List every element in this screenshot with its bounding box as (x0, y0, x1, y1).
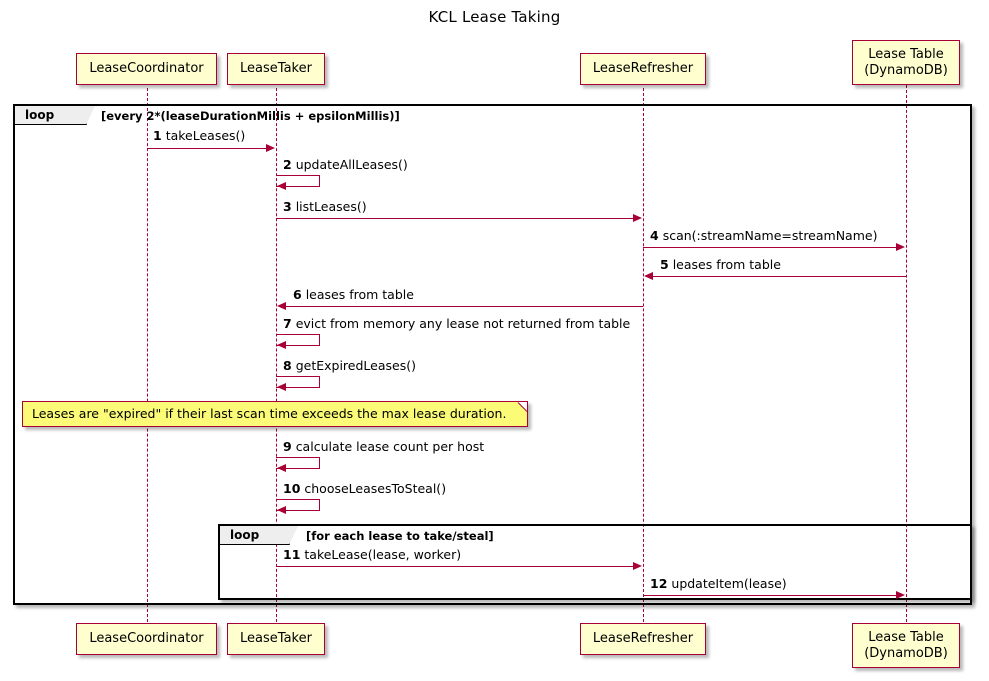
sequence-diagram-canvas: KCL Lease Taking loop [every 2*(leaseDur… (0, 0, 989, 681)
message-7-number: 7 (283, 316, 292, 331)
message-4-arrowhead (896, 243, 905, 251)
participant-label: LeaseTaker (240, 61, 312, 77)
message-5-number: 5 (660, 257, 669, 272)
message-9-arrowhead (277, 464, 286, 472)
participant-label: Lease Table (868, 47, 944, 63)
message-11-number: 11 (283, 547, 300, 562)
message-9-text: calculate lease count per host (296, 439, 484, 454)
message-8-label: 8 getExpiredLeases() (283, 358, 416, 373)
message-8-number: 8 (283, 358, 292, 373)
participant-label: Lease Table (868, 630, 944, 646)
message-2-label: 2 updateAllLeases() (283, 157, 408, 172)
message-10-text: chooseLeasesToSteal() (304, 481, 446, 496)
message-11-arrowhead (633, 562, 642, 570)
message-6-line (286, 306, 643, 307)
message-1-number: 1 (153, 128, 162, 143)
participant-lease-table-top[interactable]: Lease Table (DynamoDB) (852, 40, 960, 85)
frame-inner-loop-tab: loop (220, 526, 290, 545)
message-1-arrowhead (266, 144, 275, 152)
message-2-text: updateAllLeases() (296, 157, 408, 172)
message-9-label: 9 calculate lease count per host (283, 439, 484, 454)
frame-outer-loop-condition: [every 2*(leaseDurationMillis + epsilonM… (101, 109, 400, 123)
message-1-line (147, 148, 267, 149)
message-12-arrowhead (896, 591, 905, 599)
message-4-text: scan(:streamName=streamName) (663, 228, 878, 243)
page-title: KCL Lease Taking (0, 8, 989, 26)
participant-label: LeaseCoordinator (89, 631, 203, 647)
message-3-line (276, 218, 634, 219)
message-2-number: 2 (283, 157, 292, 172)
message-12-number: 12 (650, 576, 667, 591)
message-4-line (643, 247, 897, 248)
note-text: Leases are "expired" if their last scan … (32, 406, 506, 421)
message-10-number: 10 (283, 481, 300, 496)
message-4-label: 4 scan(:streamName=streamName) (650, 228, 877, 243)
message-2-arrowhead (277, 182, 286, 190)
participant-lease-table-bottom[interactable]: Lease Table (DynamoDB) (852, 623, 960, 668)
participant-lease-refresher-bottom[interactable]: LeaseRefresher (580, 623, 706, 655)
participant-label: LeaseTaker (240, 631, 312, 647)
message-5-text: leases from table (673, 257, 781, 272)
message-11-text: takeLease(lease, worker) (304, 547, 461, 562)
participant-lease-refresher-top[interactable]: LeaseRefresher (580, 53, 706, 85)
message-1-text: takeLeases() (166, 128, 246, 143)
message-12-label: 12 updateItem(lease) (650, 576, 787, 591)
participant-lease-taker-top[interactable]: LeaseTaker (227, 53, 325, 85)
message-5-label: 5 leases from table (660, 257, 781, 272)
participant-label-secondary: (DynamoDB) (864, 646, 948, 662)
message-7-label: 7 evict from memory any lease not return… (283, 316, 630, 331)
frame-inner-loop-condition: [for each lease to take/steal] (306, 529, 494, 543)
message-12-line (643, 595, 897, 596)
frame-inner-loop-kind: loop (230, 528, 259, 542)
message-11-label: 11 takeLease(lease, worker) (283, 547, 461, 562)
participant-label: LeaseRefresher (593, 61, 693, 77)
participant-label-secondary: (DynamoDB) (864, 63, 948, 79)
participant-label: LeaseCoordinator (89, 61, 203, 77)
message-3-label: 3 listLeases() (283, 199, 367, 214)
message-6-label: 6 leases from table (293, 287, 414, 302)
message-3-text: listLeases() (296, 199, 367, 214)
participant-lease-coordinator-bottom[interactable]: LeaseCoordinator (76, 623, 217, 655)
participant-lease-coordinator-top[interactable]: LeaseCoordinator (76, 53, 217, 85)
message-5-line (653, 276, 906, 277)
frame-outer-loop-kind: loop (25, 108, 54, 122)
message-7-arrowhead (277, 341, 286, 349)
message-4-number: 4 (650, 228, 659, 243)
message-7-text: evict from memory any lease not returned… (296, 316, 631, 331)
message-6-text: leases from table (306, 287, 414, 302)
message-3-number: 3 (283, 199, 292, 214)
participant-lease-taker-bottom[interactable]: LeaseTaker (227, 623, 325, 655)
frame-outer-loop-tab: loop (15, 106, 87, 125)
message-10-arrowhead (277, 506, 286, 514)
message-6-number: 6 (293, 287, 302, 302)
message-10-label: 10 chooseLeasesToSteal() (283, 481, 446, 496)
note-expired-leases: Leases are "expired" if their last scan … (22, 401, 528, 427)
message-8-text: getExpiredLeases() (296, 358, 416, 373)
message-3-arrowhead (633, 214, 642, 222)
message-1-label: 1 takeLeases() (153, 128, 245, 143)
message-11-line (276, 566, 634, 567)
message-5-arrowhead (644, 272, 653, 280)
message-6-arrowhead (277, 302, 286, 310)
participant-label: LeaseRefresher (593, 631, 693, 647)
message-8-arrowhead (277, 383, 286, 391)
message-9-number: 9 (283, 439, 292, 454)
message-12-text: updateItem(lease) (671, 576, 786, 591)
